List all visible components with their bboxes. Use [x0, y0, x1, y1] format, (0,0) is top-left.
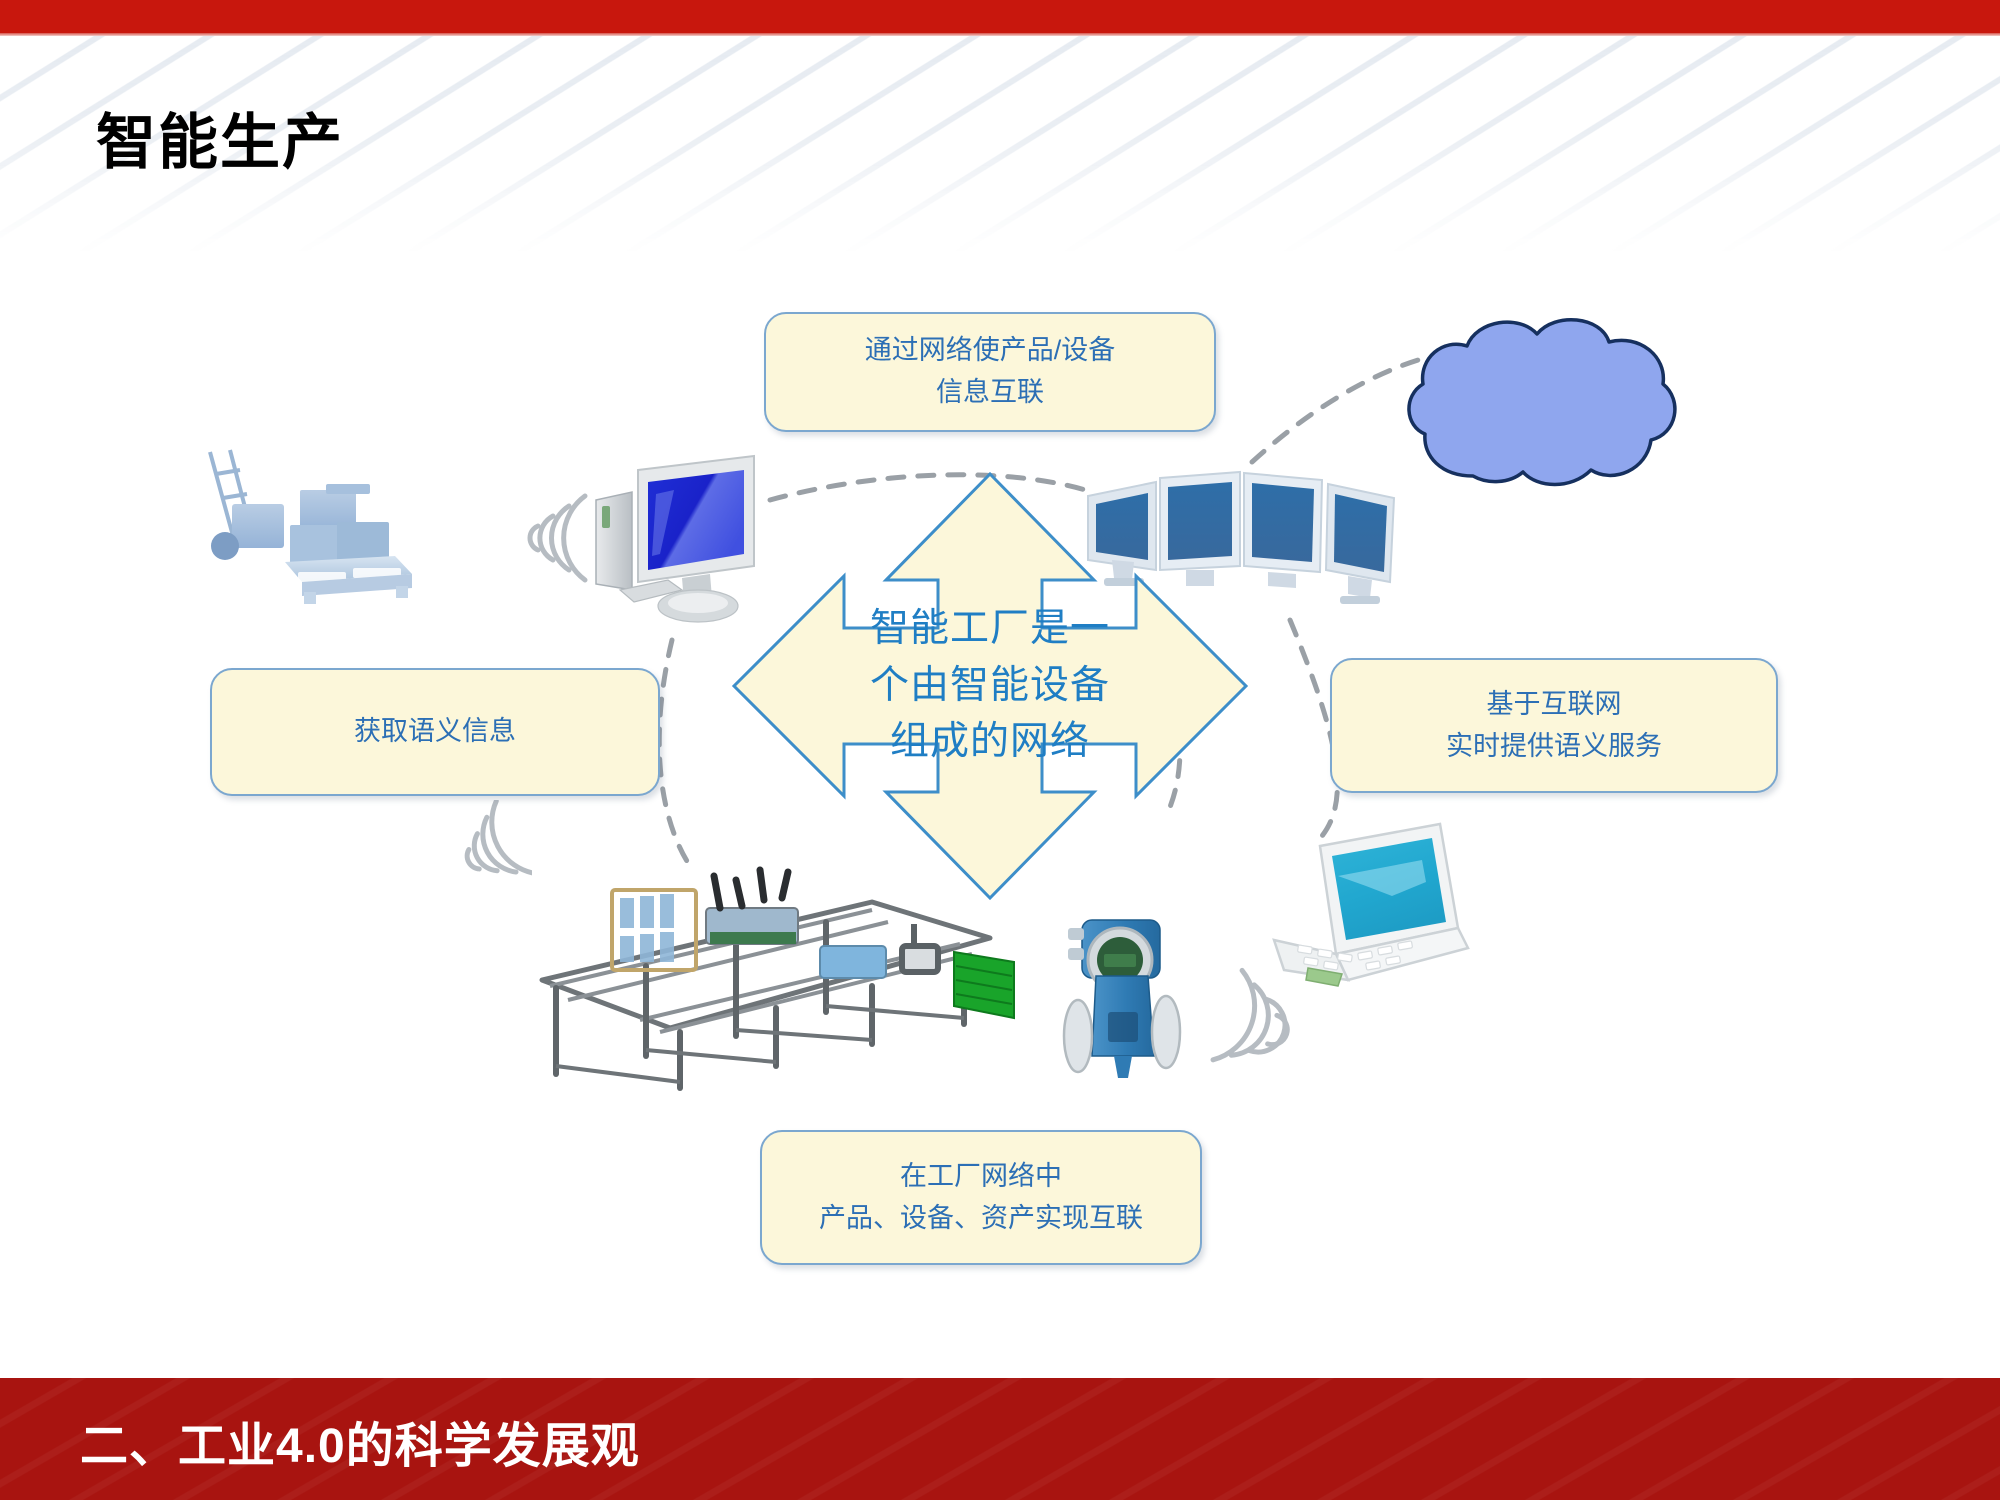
wireless-signal-left-icon [505, 478, 595, 598]
quad-arrow-shape: 智能工厂是一 个由智能设备 组成的网络 [690, 470, 1290, 902]
callout-bottom: 在工厂网络中 产品、设备、资产实现互联 [760, 1130, 1202, 1265]
page-title: 智能生产 [96, 110, 344, 176]
top-red-band [0, 0, 2000, 33]
cloud-image [1395, 308, 1685, 493]
callout-top: 通过网络使产品/设备 信息互联 [764, 312, 1216, 432]
connector-pc-to-line [659, 640, 690, 866]
slide-canvas: 智能生产 [0, 0, 2000, 1500]
callout-right-line-2: 实时提供语义服务 [1446, 726, 1662, 768]
callout-bottom-line-2: 产品、设备、资产实现互联 [819, 1198, 1143, 1240]
laptop-image [1262, 820, 1492, 1010]
callout-top-line-2: 信息互联 [936, 372, 1044, 414]
pallet-boxes-handtruck-image [190, 440, 490, 630]
wireless-signal-line-icon [432, 800, 532, 910]
callout-right: 基于互联网 实时提供语义服务 [1330, 658, 1778, 793]
footer-red-banner: 二、工业4.0的科学发展观 [0, 1378, 2000, 1500]
callout-top-line-1: 通过网络使产品/设备 [865, 330, 1116, 372]
callout-left: 获取语义信息 [210, 668, 660, 796]
footer-section-label: 二、工业4.0的科学发展观 [80, 1406, 640, 1476]
callout-right-line-1: 基于互联网 [1487, 684, 1622, 726]
flow-meter-image [1062, 912, 1202, 1112]
callout-bottom-line-1: 在工厂网络中 [900, 1156, 1062, 1198]
connector-monitors-to-cloud [1252, 360, 1418, 462]
callout-left-line-1: 获取语义信息 [354, 711, 516, 753]
